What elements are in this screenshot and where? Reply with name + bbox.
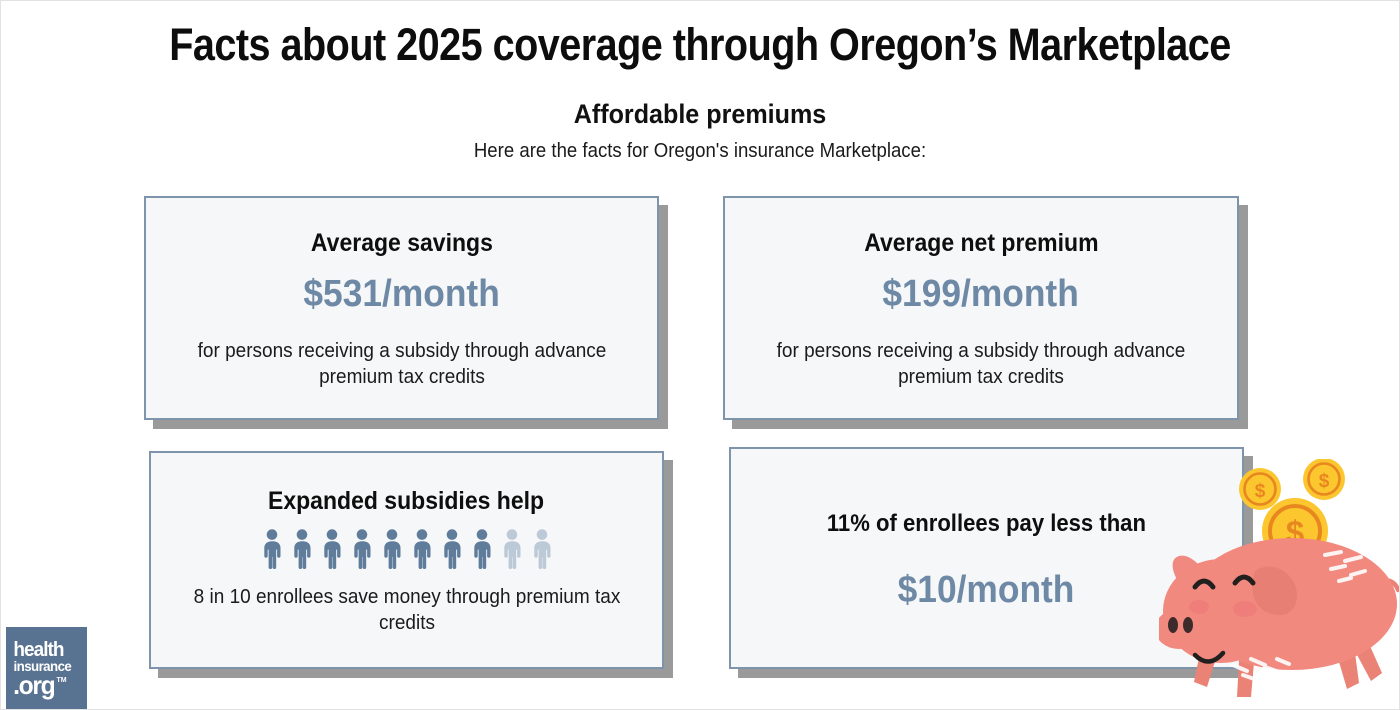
- trademark-mark: TM: [57, 677, 67, 684]
- card-figure-value: $10/month: [898, 569, 1075, 613]
- person-icon: [351, 529, 373, 569]
- logo-line-org: .org: [13, 674, 54, 698]
- card-average-net-premium: Average net premium $199/month for perso…: [723, 196, 1239, 420]
- person-icon: [501, 529, 523, 569]
- card-average-savings: Average savings $531/month for persons r…: [144, 196, 659, 420]
- pig-sparkles: [1233, 552, 1365, 680]
- card-heading: Expanded subsidies help: [268, 488, 544, 516]
- person-icon: [411, 529, 433, 569]
- svg-text:$: $: [1286, 514, 1304, 551]
- svg-text:$: $: [1319, 471, 1330, 492]
- logo-line-org-row: .org TM: [12, 674, 67, 698]
- card-heading: 11% of enrollees pay less than: [827, 511, 1146, 537]
- card-note: for persons receiving a subsidy through …: [758, 339, 1205, 390]
- card-heading: Average savings: [311, 230, 493, 258]
- pig-hind-leg: [1337, 653, 1359, 689]
- card-note: 8 in 10 enrollees save money through pre…: [183, 585, 630, 636]
- card-heading: Average net premium: [864, 230, 1098, 258]
- coin-icon-small-right: $: [1303, 459, 1345, 500]
- card-expanded-subsidies: Expanded subsidies help 8 in 10 enrollee…: [149, 451, 664, 669]
- card-figure-value: $199/month: [883, 273, 1079, 317]
- person-icon: [531, 529, 553, 569]
- people-pictogram-chart: [261, 529, 553, 569]
- person-icon: [471, 529, 493, 569]
- infographic-canvas: Facts about 2025 coverage through Oregon…: [0, 0, 1400, 710]
- coin-icon-large: $: [1262, 498, 1328, 564]
- person-icon: [261, 529, 283, 569]
- person-icon: [441, 529, 463, 569]
- pig-tail: [1376, 580, 1398, 595]
- coin-icon-small-left: $: [1239, 468, 1281, 510]
- person-icon: [291, 529, 313, 569]
- section-title: Affordable premiums: [50, 99, 1350, 130]
- page-title: Facts about 2025 coverage through Oregon…: [85, 19, 1315, 71]
- pig-hind-leg-2: [1355, 646, 1382, 681]
- section-subtitle: Here are the facts for Oregon's insuranc…: [50, 140, 1350, 163]
- healthinsurance-org-logo[interactable]: health insurance .org TM: [6, 627, 87, 710]
- svg-text:$: $: [1255, 481, 1266, 502]
- person-icon: [321, 529, 343, 569]
- pig-ear-front: [1252, 567, 1297, 616]
- logo-line-health: health: [13, 641, 63, 659]
- card-low-cost-enrollees: 11% of enrollees pay less than $10/month: [729, 447, 1244, 669]
- card-figure-value: $531/month: [303, 273, 499, 317]
- card-note: for persons receiving a subsidy through …: [178, 339, 625, 390]
- person-icon: [381, 529, 403, 569]
- coin-slot: [1269, 547, 1321, 571]
